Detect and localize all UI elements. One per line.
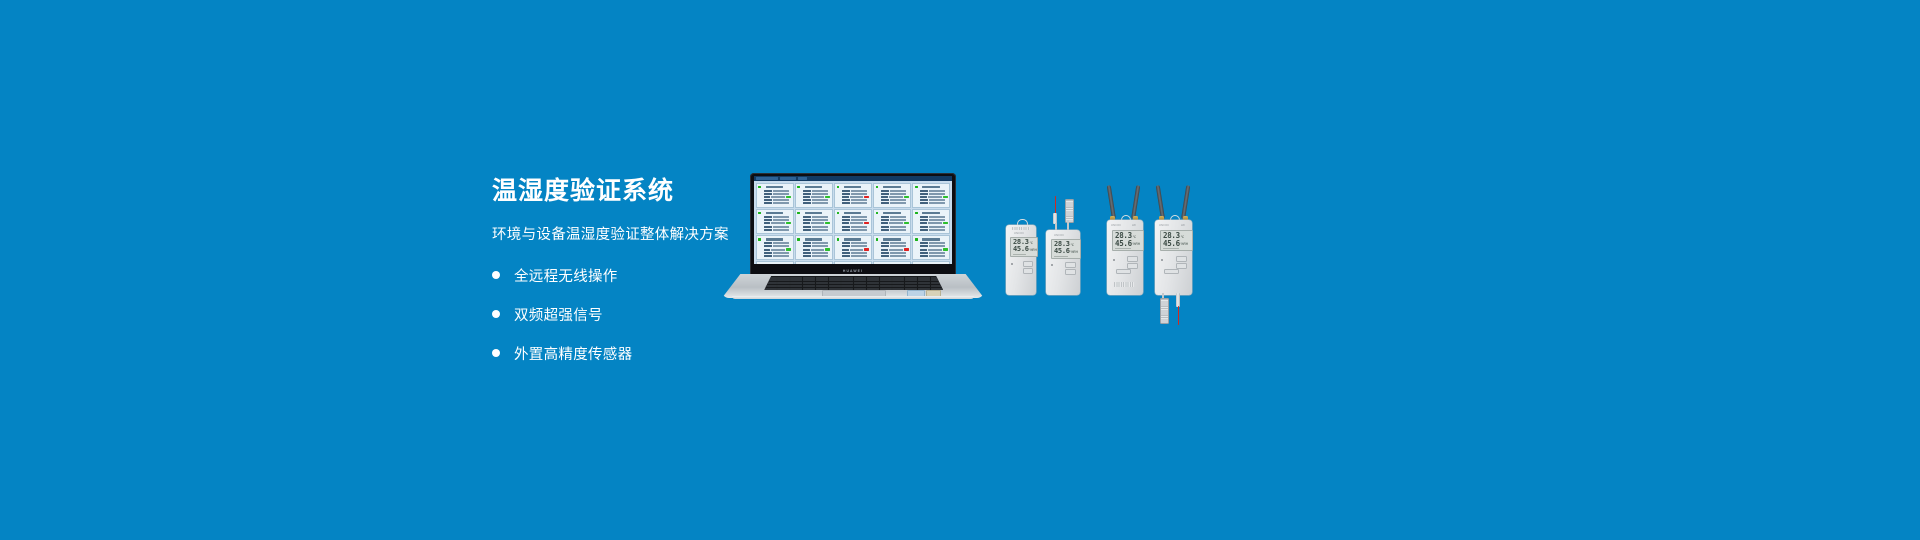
card-field-row bbox=[764, 255, 791, 257]
card-field-value bbox=[812, 219, 828, 221]
card-field-row bbox=[842, 248, 869, 250]
lcd-status-bar bbox=[1013, 254, 1026, 255]
lcd-humidity-unit: %RH bbox=[1070, 251, 1077, 254]
card-field-row bbox=[842, 255, 869, 257]
card-field-label bbox=[920, 216, 928, 218]
card-field-row bbox=[803, 193, 830, 195]
keyboard-key[interactable] bbox=[918, 277, 930, 279]
card-field-value bbox=[850, 249, 864, 251]
sensor-card[interactable] bbox=[795, 209, 833, 234]
device-button-down[interactable] bbox=[1065, 269, 1076, 275]
sensor-card-grid bbox=[754, 181, 952, 264]
card-field-value bbox=[812, 193, 828, 195]
sensor-card[interactable] bbox=[795, 235, 833, 260]
card-field-value bbox=[850, 196, 864, 198]
card-field-row bbox=[881, 248, 908, 250]
status-led-icon bbox=[1161, 259, 1163, 261]
card-status-led-icon bbox=[876, 238, 879, 241]
card-field-row bbox=[764, 245, 791, 247]
sensor-card[interactable] bbox=[873, 209, 911, 234]
keyboard-key[interactable] bbox=[816, 277, 828, 279]
probe-wire bbox=[1055, 196, 1056, 214]
card-field-row bbox=[920, 190, 947, 192]
lcd-display: 28.3 ℃ 45.6 %RH bbox=[1051, 239, 1081, 259]
card-field-label bbox=[881, 193, 889, 195]
card-field-label bbox=[764, 226, 772, 228]
keyboard-key[interactable] bbox=[816, 285, 828, 287]
keyboard-key[interactable] bbox=[880, 282, 892, 284]
card-field-value bbox=[812, 255, 828, 257]
card-field-value bbox=[929, 255, 945, 257]
keyboard-key[interactable] bbox=[892, 277, 904, 279]
card-field-label bbox=[764, 202, 772, 204]
card-field-value bbox=[812, 199, 828, 201]
card-field-row bbox=[920, 216, 947, 218]
card-field-row bbox=[881, 202, 908, 204]
card-field-label bbox=[881, 222, 888, 224]
card-field-row bbox=[920, 252, 947, 254]
card-field-label bbox=[881, 226, 889, 228]
device-body: UNION H8 28.3 ℃ 45.6 %RH bbox=[1155, 220, 1192, 295]
card-field-row bbox=[803, 242, 830, 244]
card-field-value bbox=[773, 202, 789, 204]
card-status-led-icon bbox=[797, 186, 800, 189]
card-field-value bbox=[851, 242, 867, 244]
laptop-lid: HUAWEI bbox=[750, 173, 956, 277]
keyboard-key[interactable] bbox=[841, 277, 853, 279]
card-field-label bbox=[842, 222, 849, 224]
bullet-dot-icon bbox=[492, 271, 500, 279]
antenna-left-icon bbox=[1107, 185, 1116, 219]
menu-item-system[interactable] bbox=[756, 177, 778, 180]
card-field-value bbox=[889, 222, 903, 224]
card-field-value bbox=[773, 216, 789, 218]
sensor-card[interactable] bbox=[873, 183, 911, 208]
keyboard-key[interactable] bbox=[867, 277, 879, 279]
card-field-value bbox=[812, 252, 828, 254]
card-alarm-badge bbox=[864, 222, 869, 224]
keyboard-key[interactable] bbox=[803, 285, 815, 287]
device-model-label: H8 bbox=[1132, 224, 1136, 227]
card-title bbox=[766, 186, 783, 188]
card-field-label bbox=[881, 229, 889, 231]
device-brand-label: UNION bbox=[1014, 232, 1024, 235]
sensor-card[interactable] bbox=[912, 183, 950, 208]
laptop-keyboard[interactable] bbox=[764, 276, 943, 290]
card-field-label bbox=[881, 196, 888, 198]
keyboard-key[interactable] bbox=[777, 279, 789, 281]
card-field-label bbox=[803, 249, 810, 251]
keyboard-key[interactable] bbox=[905, 279, 917, 281]
card-field-row bbox=[842, 202, 869, 204]
lcd-humidity-value: 45.6 bbox=[1013, 246, 1029, 253]
keyboard-key[interactable] bbox=[880, 279, 892, 281]
card-field-value bbox=[773, 193, 789, 195]
card-field-label bbox=[803, 245, 811, 247]
keyboard-key[interactable] bbox=[867, 282, 879, 284]
card-field-row bbox=[803, 255, 830, 257]
card-title bbox=[922, 238, 939, 240]
keyboard-key[interactable] bbox=[790, 279, 802, 281]
keyboard-key[interactable] bbox=[905, 282, 917, 284]
device-button-up[interactable] bbox=[1127, 256, 1138, 262]
card-field-label bbox=[920, 242, 928, 244]
device-button-down[interactable] bbox=[1023, 268, 1033, 274]
keyboard-key[interactable] bbox=[880, 277, 892, 279]
card-ok-badge bbox=[825, 196, 830, 198]
keyboard-key[interactable] bbox=[790, 282, 802, 284]
card-ok-badge bbox=[786, 222, 791, 224]
keyboard-key[interactable] bbox=[790, 288, 802, 290]
card-field-label bbox=[764, 222, 771, 224]
card-field-label bbox=[803, 229, 811, 231]
keyboard-key[interactable] bbox=[777, 277, 789, 279]
card-field-value bbox=[929, 226, 945, 228]
card-field-row bbox=[842, 226, 869, 228]
card-field-row bbox=[881, 242, 908, 244]
card-field-row bbox=[842, 242, 869, 244]
card-field-label bbox=[803, 255, 811, 257]
card-field-value bbox=[812, 202, 828, 204]
sensor-card[interactable] bbox=[795, 183, 833, 208]
card-field-row bbox=[920, 222, 947, 224]
card-field-value bbox=[771, 249, 785, 251]
card-field-label bbox=[803, 193, 811, 195]
status-led-icon bbox=[1051, 264, 1053, 266]
card-field-row bbox=[803, 245, 830, 247]
keyboard-key[interactable] bbox=[867, 279, 879, 281]
card-field-value bbox=[890, 226, 906, 228]
keyboard-key[interactable] bbox=[867, 285, 879, 287]
card-ok-badge bbox=[786, 196, 791, 198]
card-field-row bbox=[881, 190, 908, 192]
card-field-label bbox=[881, 216, 889, 218]
card-field-value bbox=[771, 196, 785, 198]
card-field-label bbox=[764, 245, 772, 247]
card-status-led-icon bbox=[837, 186, 840, 189]
sensor-card[interactable] bbox=[756, 235, 794, 260]
card-field-label bbox=[803, 190, 811, 192]
card-field-label bbox=[764, 196, 771, 198]
card-status-led-icon bbox=[797, 238, 800, 241]
bullet-dot-icon bbox=[492, 310, 500, 318]
menu-item-help[interactable] bbox=[798, 177, 807, 180]
card-field-value bbox=[812, 226, 828, 228]
device-body: UNION 28.3 ℃ 45.6 %RH bbox=[1046, 230, 1080, 295]
device-button-set[interactable] bbox=[1116, 269, 1131, 274]
card-field-label bbox=[803, 242, 811, 244]
sensor-card[interactable] bbox=[834, 209, 872, 234]
keyboard-key[interactable] bbox=[854, 279, 866, 281]
card-title bbox=[805, 238, 822, 240]
card-field-label bbox=[920, 193, 928, 195]
keyboard-key[interactable] bbox=[892, 279, 904, 281]
sensor-card[interactable] bbox=[873, 235, 911, 260]
card-ok-badge bbox=[943, 248, 948, 250]
card-field-value bbox=[929, 252, 945, 254]
card-field-row bbox=[881, 226, 908, 228]
lcd-humidity-line: 45.6 %RH bbox=[1013, 246, 1037, 253]
card-field-row bbox=[881, 255, 908, 257]
card-field-row bbox=[842, 219, 869, 221]
card-status-led-icon bbox=[758, 186, 761, 189]
keyboard-key[interactable] bbox=[829, 285, 841, 287]
keyboard-key[interactable] bbox=[816, 282, 828, 284]
card-field-label bbox=[764, 199, 772, 201]
card-status-led-icon bbox=[837, 238, 840, 241]
card-field-value bbox=[851, 255, 867, 257]
card-field-row bbox=[803, 202, 830, 204]
card-field-row bbox=[881, 199, 908, 201]
card-field-label bbox=[764, 216, 772, 218]
keyboard-key[interactable] bbox=[905, 277, 917, 279]
device-button-up[interactable] bbox=[1023, 261, 1033, 267]
card-field-row bbox=[803, 229, 830, 231]
keyboard-key[interactable] bbox=[777, 288, 789, 290]
card-field-row bbox=[842, 196, 869, 198]
hero-banner: 温湿度验证系统 环境与设备温湿度验证整体解决方案 全远程无线操作 双频超强信号 … bbox=[0, 0, 1920, 540]
card-title bbox=[805, 186, 822, 188]
sensor-card[interactable] bbox=[756, 209, 794, 234]
card-field-value bbox=[890, 245, 906, 247]
sensor-card[interactable] bbox=[912, 235, 950, 260]
card-field-label bbox=[803, 226, 811, 228]
keyboard-key[interactable] bbox=[854, 282, 866, 284]
keyboard-key[interactable] bbox=[892, 285, 904, 287]
card-field-row bbox=[764, 252, 791, 254]
keyboard-key[interactable] bbox=[841, 285, 853, 287]
card-field-row bbox=[764, 202, 791, 204]
card-field-value bbox=[812, 229, 828, 231]
keyboard-row bbox=[765, 277, 943, 279]
card-field-row bbox=[803, 199, 830, 201]
keyboard-key[interactable] bbox=[765, 288, 777, 290]
card-field-row bbox=[920, 245, 947, 247]
keyboard-key[interactable] bbox=[892, 288, 904, 290]
device-button-set[interactable] bbox=[1164, 269, 1179, 274]
device-data-logger-external-probe: UNION 28.3 ℃ 45.6 %RH bbox=[1046, 196, 1080, 295]
lcd-display: 28.3 ℃ 45.6 %RH bbox=[1160, 230, 1193, 251]
card-field-label bbox=[842, 249, 849, 251]
card-field-label bbox=[920, 222, 927, 224]
sensor-card[interactable] bbox=[834, 235, 872, 260]
card-field-value bbox=[851, 216, 867, 218]
card-title bbox=[922, 212, 939, 214]
probe-connector bbox=[1176, 293, 1180, 307]
card-field-label bbox=[842, 199, 850, 201]
card-field-label bbox=[920, 196, 927, 198]
keyboard-key[interactable] bbox=[854, 285, 866, 287]
card-field-label bbox=[920, 226, 928, 228]
keyboard-row bbox=[765, 279, 943, 281]
card-field-row bbox=[803, 196, 830, 198]
card-field-value bbox=[851, 229, 867, 231]
card-field-value bbox=[890, 252, 906, 254]
card-field-value bbox=[773, 255, 789, 257]
card-field-row bbox=[764, 196, 791, 198]
lcd-humidity-line: 45.6 %RH bbox=[1115, 240, 1140, 248]
card-field-label bbox=[881, 190, 889, 192]
keyboard-key[interactable] bbox=[905, 285, 917, 287]
antenna-left-icon bbox=[1156, 185, 1165, 219]
keyboard-key[interactable] bbox=[790, 277, 802, 279]
card-field-row bbox=[920, 219, 947, 221]
card-field-row bbox=[842, 216, 869, 218]
card-status-led-icon bbox=[797, 212, 800, 215]
sensor-card[interactable] bbox=[756, 183, 794, 208]
card-ok-badge bbox=[786, 248, 791, 250]
keyboard-key[interactable] bbox=[829, 277, 841, 279]
card-field-value bbox=[890, 242, 906, 244]
card-field-row bbox=[842, 245, 869, 247]
card-field-label bbox=[803, 202, 811, 204]
keyboard-key[interactable] bbox=[803, 288, 815, 290]
card-field-label bbox=[920, 202, 928, 204]
device-brand-label: UNION bbox=[1111, 224, 1121, 227]
card-ok-badge bbox=[825, 222, 830, 224]
card-field-value bbox=[851, 245, 867, 247]
card-field-row bbox=[803, 252, 830, 254]
sensor-card[interactable] bbox=[912, 209, 950, 234]
keyboard-row bbox=[765, 285, 943, 287]
device-button-up[interactable] bbox=[1176, 256, 1187, 262]
card-field-row bbox=[881, 252, 908, 254]
card-title bbox=[766, 212, 783, 214]
lcd-humidity-unit: %RH bbox=[1181, 243, 1188, 246]
card-field-value bbox=[811, 196, 825, 198]
keyboard-key[interactable] bbox=[816, 279, 828, 281]
card-field-row bbox=[764, 216, 791, 218]
keyboard-key[interactable] bbox=[803, 279, 815, 281]
status-led-icon bbox=[1011, 263, 1013, 265]
card-field-label bbox=[920, 229, 928, 231]
card-status-led-icon bbox=[915, 186, 918, 189]
keyboard-key[interactable] bbox=[841, 279, 853, 281]
keyboard-key[interactable] bbox=[918, 279, 930, 281]
card-field-label bbox=[881, 202, 889, 204]
card-field-row bbox=[803, 190, 830, 192]
card-field-label bbox=[881, 199, 889, 201]
menu-item-status[interactable] bbox=[780, 177, 796, 180]
keyboard-key[interactable] bbox=[918, 285, 930, 287]
card-field-label bbox=[881, 249, 888, 251]
card-field-row bbox=[881, 216, 908, 218]
card-alarm-badge bbox=[864, 196, 869, 198]
card-field-row bbox=[920, 248, 947, 250]
card-title bbox=[805, 212, 822, 214]
laptop-screen bbox=[754, 176, 952, 264]
card-field-row bbox=[881, 229, 908, 231]
card-field-value bbox=[851, 219, 867, 221]
card-title bbox=[844, 238, 861, 240]
device-data-logger-compact: UNION 28.3 ℃ 45.6 %RH bbox=[1006, 219, 1036, 295]
keyboard-key[interactable] bbox=[803, 282, 815, 284]
card-status-led-icon bbox=[876, 186, 879, 189]
device-wireless-logger-dual-antenna: UNION H8 28.3 ℃ 45.6 %RH bbox=[1105, 185, 1145, 295]
card-field-value bbox=[890, 216, 906, 218]
card-title bbox=[844, 212, 861, 214]
card-field-value bbox=[890, 255, 906, 257]
sensor-card[interactable] bbox=[834, 183, 872, 208]
vent-grille bbox=[1114, 282, 1134, 287]
keyboard-key[interactable] bbox=[803, 277, 815, 279]
card-field-value bbox=[812, 245, 828, 247]
card-field-label bbox=[881, 252, 889, 254]
card-field-value bbox=[929, 229, 945, 231]
card-title bbox=[883, 238, 900, 240]
card-field-row bbox=[803, 216, 830, 218]
keyboard-key[interactable] bbox=[829, 282, 841, 284]
card-title bbox=[766, 238, 783, 240]
card-field-value bbox=[851, 202, 867, 204]
keyboard-key[interactable] bbox=[841, 282, 853, 284]
lcd-humidity-line: 45.6 %RH bbox=[1163, 240, 1188, 248]
lcd-humidity-unit: %RH bbox=[1029, 249, 1036, 252]
keyboard-key[interactable] bbox=[854, 277, 866, 279]
card-field-row bbox=[920, 199, 947, 201]
card-field-label bbox=[881, 255, 889, 257]
card-field-label bbox=[920, 249, 927, 251]
keyboard-key[interactable] bbox=[892, 282, 904, 284]
keyboard-key[interactable] bbox=[790, 285, 802, 287]
card-field-value bbox=[928, 222, 942, 224]
bullet-dot-icon bbox=[492, 349, 500, 357]
card-field-value bbox=[890, 193, 906, 195]
card-title bbox=[844, 186, 861, 188]
card-field-row bbox=[920, 242, 947, 244]
card-field-label bbox=[803, 222, 810, 224]
lcd-humidity-value: 45.6 bbox=[1163, 240, 1180, 248]
card-field-value bbox=[851, 199, 867, 201]
card-field-row bbox=[920, 255, 947, 257]
card-status-led-icon bbox=[758, 238, 761, 241]
card-field-value bbox=[929, 190, 945, 192]
card-alarm-badge bbox=[904, 248, 909, 250]
device-brand-label: UNION bbox=[1159, 224, 1169, 227]
card-field-label bbox=[920, 255, 928, 257]
lcd-display: 28.3 ℃ 45.6 %RH bbox=[1112, 230, 1144, 251]
card-field-row bbox=[881, 222, 908, 224]
card-field-value bbox=[771, 222, 785, 224]
card-field-label bbox=[803, 216, 811, 218]
keyboard-key[interactable] bbox=[829, 279, 841, 281]
keyboard-key[interactable] bbox=[880, 285, 892, 287]
device-body: UNION H8 28.3 ℃ 45.6 %RH bbox=[1107, 220, 1143, 295]
card-field-row bbox=[803, 248, 830, 250]
lcd-status-bar bbox=[1115, 248, 1131, 249]
card-field-label bbox=[764, 255, 772, 257]
card-field-value bbox=[773, 199, 789, 201]
card-status-led-icon bbox=[876, 212, 879, 215]
keyboard-key[interactable] bbox=[777, 282, 789, 284]
card-status-led-icon bbox=[837, 212, 840, 215]
antenna-right-icon bbox=[1131, 185, 1140, 219]
card-field-row bbox=[764, 193, 791, 195]
probe-wire bbox=[1178, 306, 1179, 325]
keyboard-key[interactable] bbox=[918, 282, 930, 284]
card-field-value bbox=[773, 252, 789, 254]
card-field-label bbox=[920, 245, 928, 247]
card-field-row bbox=[803, 219, 830, 221]
card-field-row bbox=[881, 219, 908, 221]
card-field-row bbox=[881, 245, 908, 247]
card-field-row bbox=[764, 190, 791, 192]
device-button-up[interactable] bbox=[1065, 262, 1076, 268]
card-ok-badge bbox=[825, 248, 830, 250]
lcd-humidity-value: 45.6 bbox=[1115, 240, 1132, 248]
laptop-illustration: HUAWEI bbox=[722, 173, 984, 298]
keyboard-key[interactable] bbox=[777, 285, 789, 287]
